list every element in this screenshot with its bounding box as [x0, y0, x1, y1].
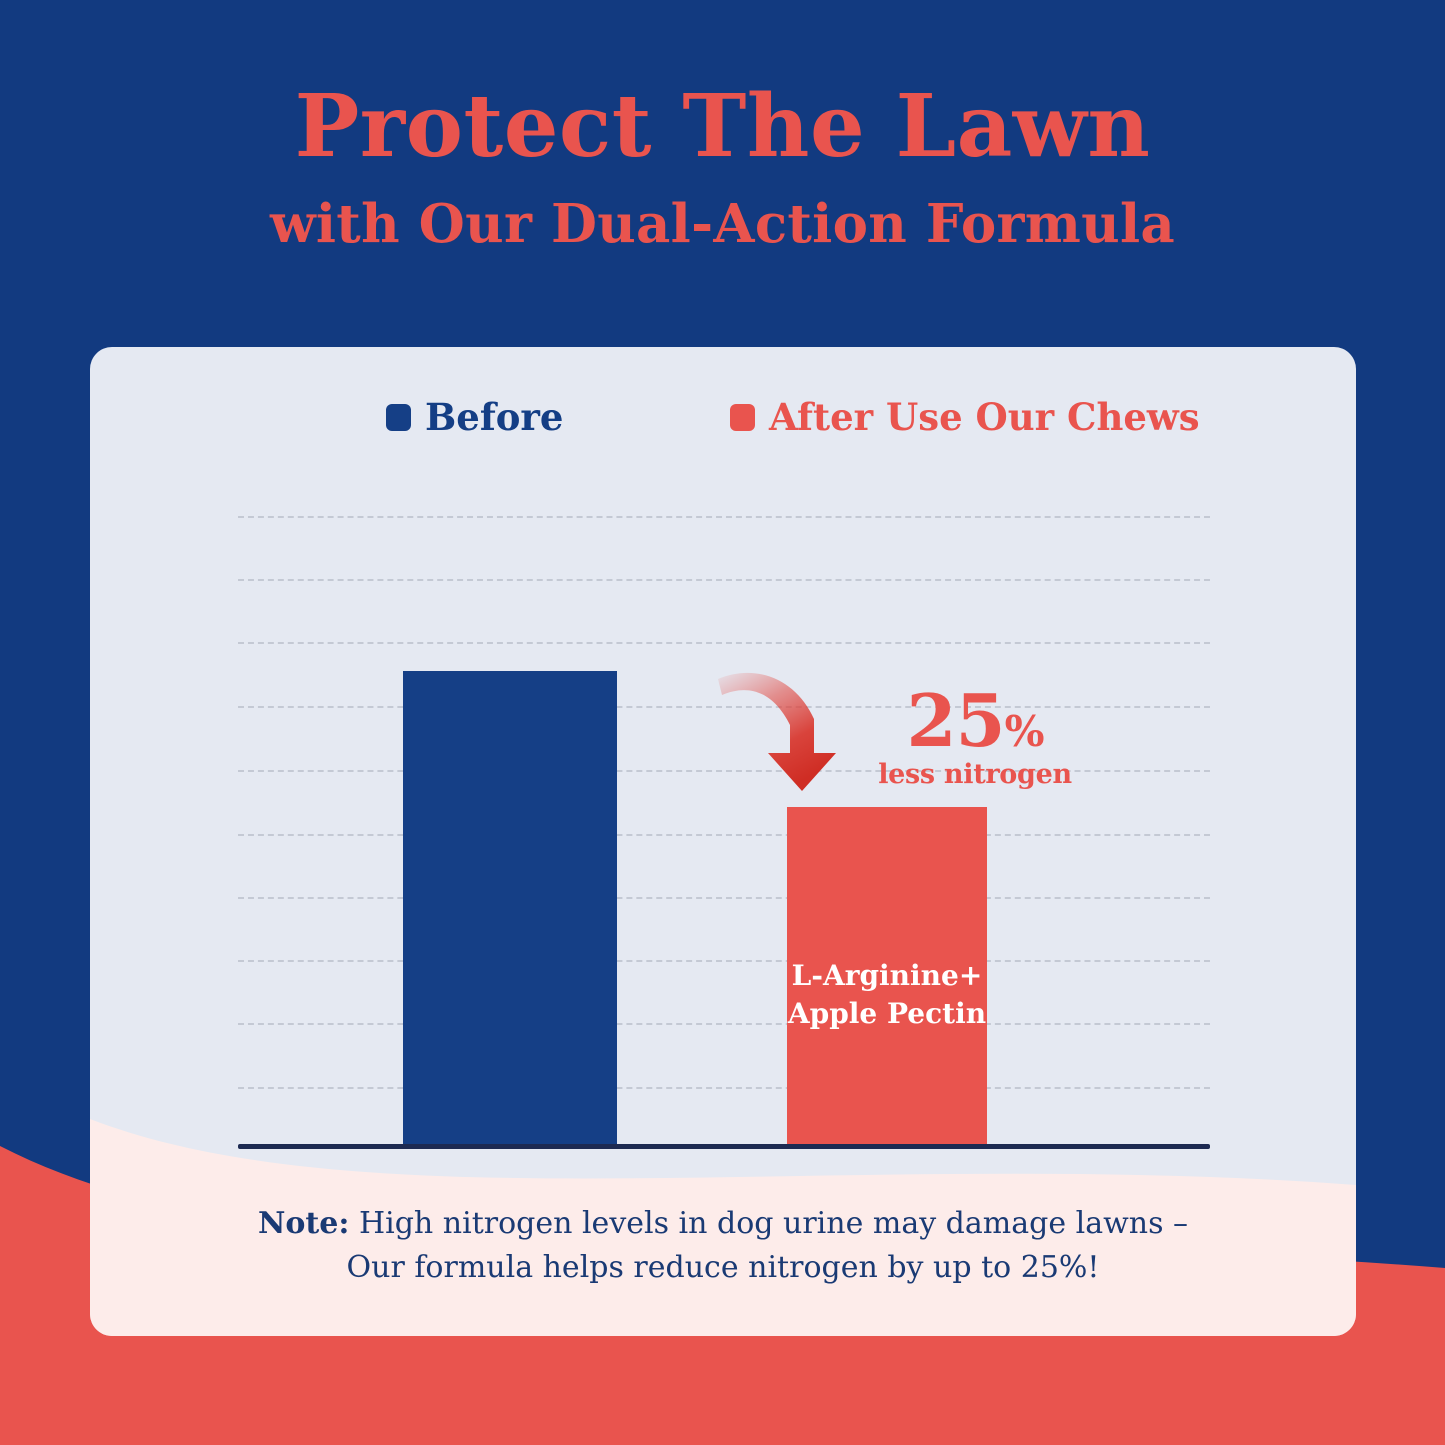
- gridline: [238, 516, 1210, 518]
- bar-after[interactable]: L-Arginine+ Apple Pectin: [787, 807, 987, 1144]
- gridline: [238, 834, 1210, 836]
- callout-number: 25: [906, 678, 1004, 763]
- callout-percent-symbol: %: [1005, 707, 1044, 756]
- page-title: Protect The Lawn: [0, 84, 1445, 170]
- callout-sublabel: less nitrogen: [860, 761, 1090, 788]
- plot-area: L-Arginine+ Apple Pectin: [90, 347, 1356, 1336]
- note-line-1: Note: High nitrogen levels in dog urine …: [90, 1202, 1356, 1246]
- bar-before[interactable]: [403, 671, 617, 1144]
- header: Protect The Lawn with Our Dual-Action Fo…: [0, 84, 1445, 251]
- gridline: [238, 1087, 1210, 1089]
- note-line-2: Our formula helps reduce nitrogen by up …: [90, 1246, 1356, 1290]
- gridline: [238, 1023, 1210, 1025]
- chart-card: Before After Use Our Chews L-Argi: [90, 347, 1356, 1336]
- stat-callout: 25% less nitrogen: [860, 687, 1090, 788]
- gridline: [238, 642, 1210, 644]
- bar-after-label: L-Arginine+ Apple Pectin: [787, 957, 987, 1033]
- note-line1-text: High nitrogen levels in dog urine may da…: [349, 1206, 1188, 1241]
- chart-axis-line: [238, 1144, 1210, 1149]
- note-text: Note: High nitrogen levels in dog urine …: [90, 1202, 1356, 1289]
- bar-after-label-line2: Apple Pectin: [787, 995, 987, 1033]
- callout-value: 25%: [860, 687, 1090, 755]
- infographic-root: Protect The Lawn with Our Dual-Action Fo…: [0, 0, 1445, 1445]
- gridline: [238, 579, 1210, 581]
- bar-after-label-line1: L-Arginine+: [787, 957, 987, 995]
- page-subtitle: with Our Dual-Action Formula: [0, 198, 1445, 251]
- gridline: [238, 960, 1210, 962]
- gridline: [238, 897, 1210, 899]
- note-prefix: Note:: [258, 1206, 349, 1241]
